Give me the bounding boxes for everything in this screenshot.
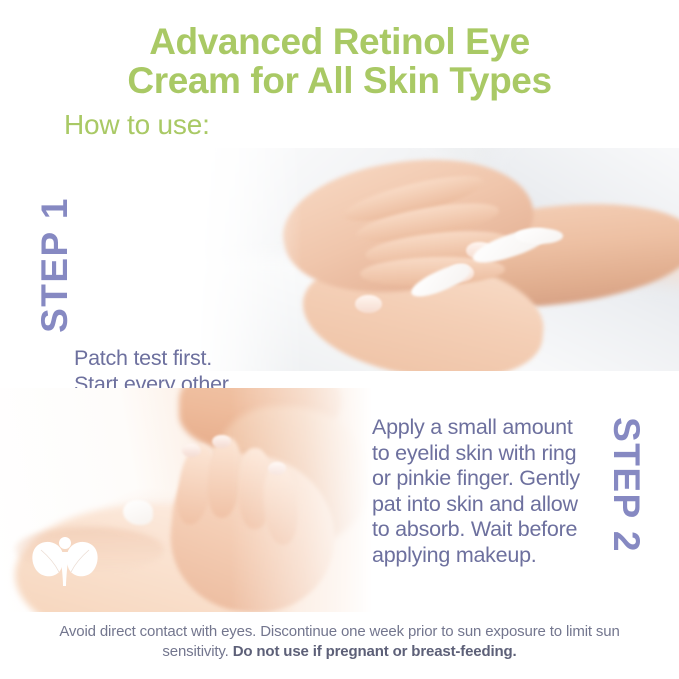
step-1-photo — [196, 148, 679, 371]
step-2-text: Apply a small amount to eyelid skin with… — [372, 415, 624, 568]
fingernail — [212, 435, 231, 448]
disclaimer-bold-warning: Do not use if pregnant or breast-feeding… — [233, 643, 517, 660]
page-title: Advanced Retinol Eye Cream for All Skin … — [0, 22, 679, 100]
step-2-section: STEP 2 Apply a small amount to eyelid sk… — [0, 388, 679, 612]
fingernail — [355, 295, 382, 313]
step-1-section: STEP 1 Patch test first. Start every oth… — [0, 148, 679, 371]
step-1-label: STEP 1 — [34, 170, 76, 360]
cream-smear — [515, 228, 563, 244]
how-to-use-heading: How to use: — [64, 110, 210, 140]
butterfly-logo-icon — [28, 534, 102, 590]
header: Advanced Retinol Eye Cream for All Skin … — [0, 0, 679, 148]
cream-dab — [123, 500, 153, 525]
disclaimer: Avoid direct contact with eyes. Disconti… — [30, 622, 649, 662]
step-2-photo — [0, 388, 372, 612]
